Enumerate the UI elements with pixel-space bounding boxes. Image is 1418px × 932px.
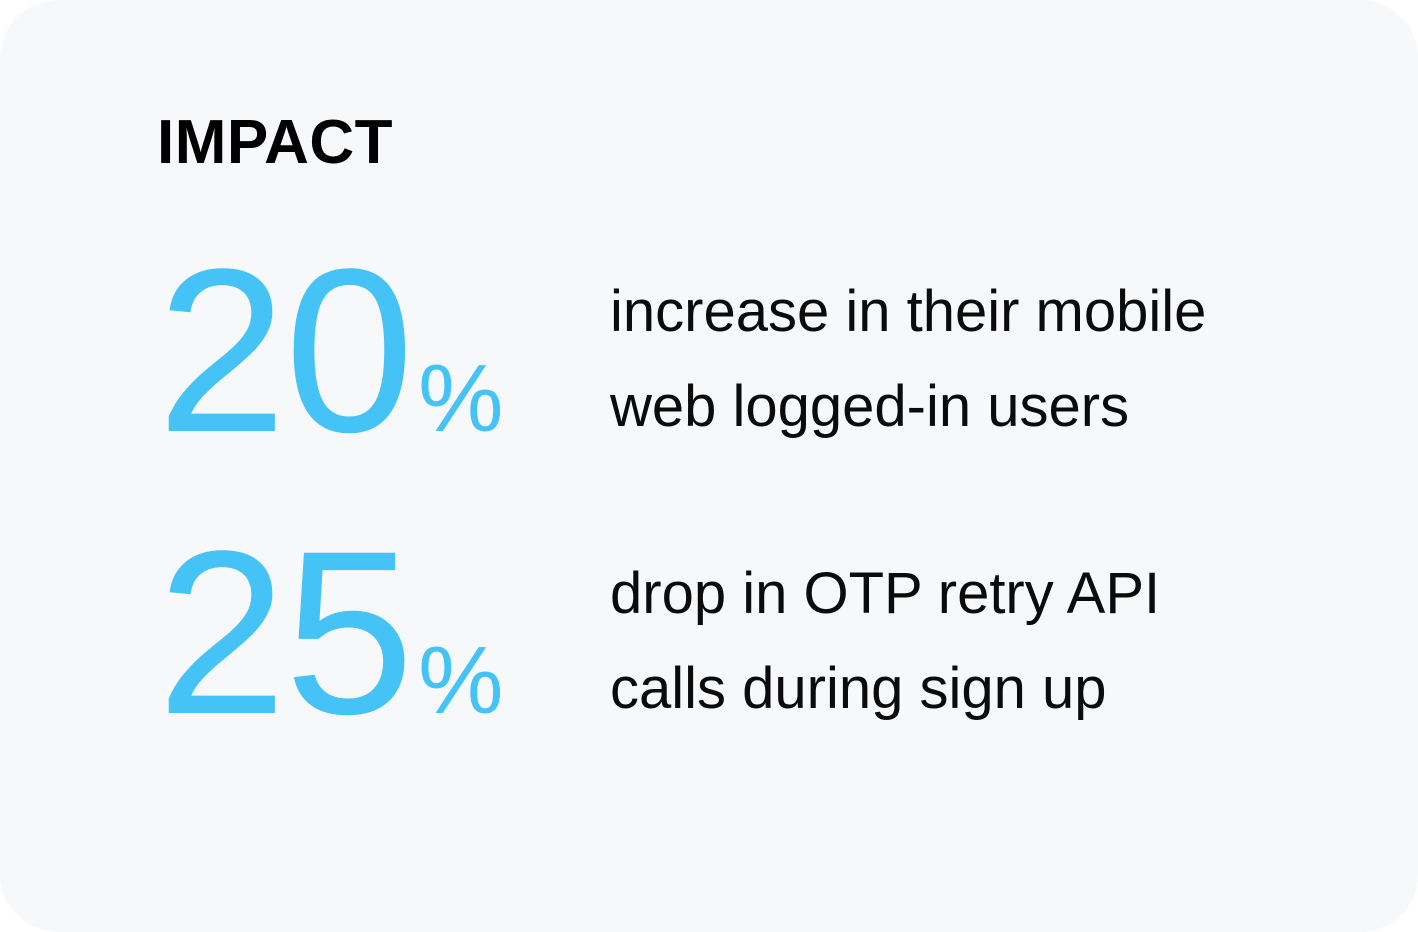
stats-list: 20 % increase in their mobile web logged… xyxy=(0,248,1418,812)
stat-description: increase in their mobile web logged-in u… xyxy=(610,264,1310,454)
stat-description-line: drop in OTP retry API xyxy=(610,546,1310,641)
stat-row: 25 % drop in OTP retry API calls during … xyxy=(0,530,1418,812)
impact-card: IMPACT 20 % increase in their mobile web… xyxy=(0,0,1418,932)
stat-description-line: web logged-in users xyxy=(610,359,1310,454)
stat-description-line: calls during sign up xyxy=(610,641,1310,736)
stat-description: drop in OTP retry API calls during sign … xyxy=(610,546,1310,736)
page-title: IMPACT xyxy=(157,112,393,174)
stat-value: 20 xyxy=(157,248,412,455)
percent-sign-icon: % xyxy=(418,351,503,447)
stat-figure: 20 % xyxy=(157,248,504,455)
stat-description-line: increase in their mobile xyxy=(610,264,1310,359)
stat-value: 25 xyxy=(157,530,412,737)
percent-sign-icon: % xyxy=(418,633,503,729)
stat-row: 20 % increase in their mobile web logged… xyxy=(0,248,1418,530)
stat-figure: 25 % xyxy=(157,530,504,737)
